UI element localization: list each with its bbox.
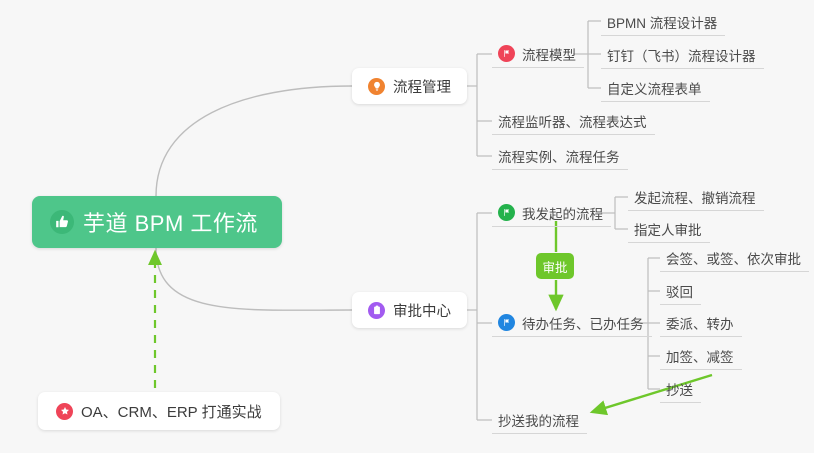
leaf-process-listener-expression[interactable]: 流程监听器、流程表达式 <box>492 107 655 135</box>
node-label: 待办任务、已办任务 <box>522 313 644 333</box>
leaf-custom-process-form[interactable]: 自定义流程表单 <box>601 74 710 102</box>
leaf-start-cancel-process[interactable]: 发起流程、撤销流程 <box>628 183 764 211</box>
branch-label: 审批中心 <box>393 300 451 321</box>
flag-icon <box>498 204 515 221</box>
root-label: 芋道 BPM 工作流 <box>83 206 258 238</box>
leaf-cc-to-me-process[interactable]: 抄送我的流程 <box>492 406 587 434</box>
node-todo-done-tasks[interactable]: 待办任务、已办任务 <box>492 309 652 337</box>
leaf-label: 抄送 <box>666 379 693 399</box>
leaf-reject[interactable]: 驳回 <box>660 277 701 305</box>
branch-node-approval-center[interactable]: 审批中心 <box>352 292 467 328</box>
leaf-designated-approver[interactable]: 指定人审批 <box>628 215 710 243</box>
branch-node-process-management[interactable]: 流程管理 <box>352 68 467 104</box>
leaf-label: 委派、转办 <box>666 313 734 333</box>
leaf-label: 发起流程、撤销流程 <box>634 187 756 207</box>
approval-badge-label: 审批 <box>542 257 567 276</box>
leaf-label: 指定人审批 <box>634 219 702 239</box>
leaf-label: 抄送我的流程 <box>498 410 579 430</box>
leaf-dingtalk-feishu-designer[interactable]: 钉钉（飞书）流程设计器 <box>601 41 764 69</box>
leaf-bpmn-designer[interactable]: BPMN 流程设计器 <box>601 8 725 36</box>
node-process-model[interactable]: 流程模型 <box>492 40 584 68</box>
flag-icon <box>498 314 515 331</box>
mindmap-canvas: 芋道 BPM 工作流 流程管理 流程模型 BPMN 流程设计器 钉钉（飞书）流程… <box>0 0 814 453</box>
approval-badge: 审批 <box>536 253 574 279</box>
leaf-label: 流程实例、流程任务 <box>498 146 620 166</box>
leaf-process-instance-task[interactable]: 流程实例、流程任务 <box>492 142 628 170</box>
thumbs-up-icon <box>50 210 74 234</box>
clipboard-icon <box>368 302 385 319</box>
leaf-countersign[interactable]: 会签、或签、依次审批 <box>660 244 809 272</box>
flag-icon <box>498 45 515 62</box>
bottom-note-node[interactable]: OA、CRM、ERP 打通实战 <box>38 392 280 430</box>
leaf-label: 会签、或签、依次审批 <box>666 248 801 268</box>
leaf-label: 流程监听器、流程表达式 <box>498 111 647 131</box>
leaf-label: 加签、减签 <box>666 346 734 366</box>
leaf-label: BPMN 流程设计器 <box>607 12 717 32</box>
leaf-delegate-transfer[interactable]: 委派、转办 <box>660 309 742 337</box>
lightbulb-icon <box>368 78 385 95</box>
node-label: 流程模型 <box>522 44 576 64</box>
leaf-add-remove-sign[interactable]: 加签、减签 <box>660 342 742 370</box>
leaf-label: 钉钉（飞书）流程设计器 <box>607 45 756 65</box>
node-label: 我发起的流程 <box>522 203 603 223</box>
leaf-label: 驳回 <box>666 281 693 301</box>
star-icon <box>56 403 73 420</box>
root-node[interactable]: 芋道 BPM 工作流 <box>32 196 282 248</box>
bottom-note-label: OA、CRM、ERP 打通实战 <box>81 401 262 422</box>
branch-label: 流程管理 <box>393 76 451 97</box>
leaf-label: 自定义流程表单 <box>607 78 702 98</box>
leaf-cc[interactable]: 抄送 <box>660 375 701 403</box>
node-my-initiated-process[interactable]: 我发起的流程 <box>492 199 611 227</box>
